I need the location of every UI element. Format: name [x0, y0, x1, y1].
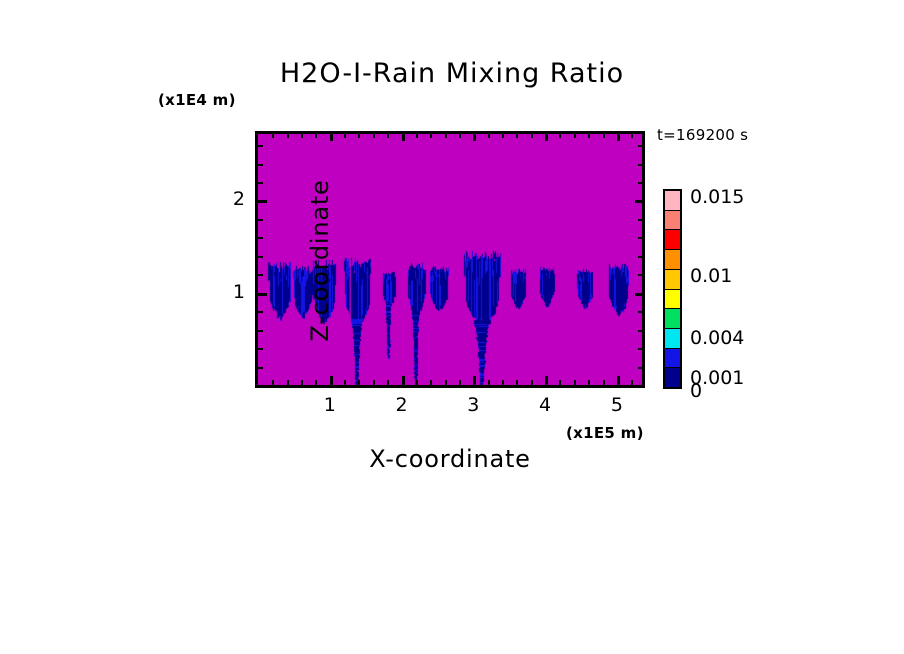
- y-tick-minor: [258, 237, 263, 239]
- x-tick-top: [631, 134, 633, 138]
- x-tick-top: [516, 134, 518, 138]
- x-tick-top: [430, 134, 432, 138]
- y-tick-minor: [258, 330, 263, 332]
- x-tick-minor: [373, 380, 375, 385]
- colorbar-band-9: [665, 368, 680, 387]
- y-tick-right: [638, 164, 642, 166]
- colorbar: [663, 189, 682, 389]
- y-tick-label: 2: [215, 188, 245, 210]
- x-tick-minor: [459, 380, 461, 385]
- colorbar-band-8: [665, 349, 680, 369]
- x-tick-minor: [588, 380, 590, 385]
- x-tick-top: [545, 134, 548, 141]
- y-tick-minor: [258, 348, 263, 350]
- x-tick-minor: [301, 380, 303, 385]
- x-tick-top: [402, 134, 405, 141]
- x-tick-minor: [516, 380, 518, 385]
- y-tick-minor: [258, 219, 263, 221]
- y-axis-title: Z-coordinate: [178, 0, 204, 133]
- x-tick-major: [617, 376, 620, 385]
- x-tick-minor: [574, 380, 576, 385]
- colorbar-tick-label: 0.01: [690, 265, 732, 287]
- x-tick-minor: [531, 380, 533, 385]
- x-tick-top: [617, 134, 620, 141]
- x-tick-top: [344, 134, 346, 138]
- x-tick-minor: [287, 380, 289, 385]
- x-tick-major: [473, 376, 476, 385]
- x-tick-label: 2: [382, 394, 422, 416]
- x-tick-top: [459, 134, 461, 138]
- y-tick-minor: [258, 182, 263, 184]
- colorbar-band-7: [665, 329, 680, 349]
- page-title: H2O-I-Rain Mixing Ratio: [0, 58, 904, 89]
- x-axis-title: X-coordinate: [255, 445, 645, 473]
- colorbar-band-4: [665, 270, 680, 290]
- x-tick-minor: [358, 380, 360, 385]
- y-tick-minor: [258, 274, 263, 276]
- x-tick-minor: [559, 380, 561, 385]
- x-tick-label: 4: [525, 394, 565, 416]
- x-tick-major: [402, 376, 405, 385]
- x-tick-top: [272, 134, 274, 138]
- x-tick-minor: [387, 380, 389, 385]
- y-tick-right: [638, 330, 642, 332]
- x-tick-minor: [603, 380, 605, 385]
- y-tick-minor: [258, 256, 263, 258]
- y-tick-right: [638, 367, 642, 369]
- y-tick-minor: [258, 311, 263, 313]
- x-tick-top: [416, 134, 418, 138]
- x-tick-top: [287, 134, 289, 138]
- y-tick-right: [638, 256, 642, 258]
- x-tick-top: [531, 134, 533, 138]
- x-tick-top: [387, 134, 389, 138]
- y-tick-major: [258, 293, 267, 296]
- y-tick-minor: [258, 145, 263, 147]
- colorbar-band-2: [665, 230, 680, 250]
- y-tick-right: [635, 293, 642, 296]
- y-tick-right: [638, 274, 642, 276]
- y-tick-right: [638, 219, 642, 221]
- colorbar-band-6: [665, 309, 680, 329]
- x-tick-minor: [445, 380, 447, 385]
- x-tick-minor: [488, 380, 490, 385]
- colorbar-tick-label: 0.004: [690, 327, 744, 349]
- x-tick-minor: [502, 380, 504, 385]
- x-tick-label: 1: [310, 394, 350, 416]
- x-tick-label: 3: [453, 394, 493, 416]
- x-tick-top: [603, 134, 605, 138]
- x-tick-minor: [416, 380, 418, 385]
- x-axis-unit-label: (x1E5 m): [566, 424, 644, 442]
- y-tick-right: [638, 311, 642, 313]
- x-tick-major: [545, 376, 548, 385]
- x-tick-minor: [631, 380, 633, 385]
- x-tick-top: [358, 134, 360, 138]
- y-tick-minor: [258, 367, 263, 369]
- x-tick-minor: [430, 380, 432, 385]
- y-tick-right: [638, 348, 642, 350]
- x-tick-label: 5: [597, 394, 637, 416]
- x-tick-minor: [344, 380, 346, 385]
- colorbar-band-5: [665, 290, 680, 310]
- x-tick-top: [373, 134, 375, 138]
- y-tick-label: 1: [215, 281, 245, 303]
- x-tick-minor: [272, 380, 274, 385]
- y-tick-right: [638, 182, 642, 184]
- colorbar-band-0: [665, 191, 680, 211]
- x-tick-top: [473, 134, 476, 141]
- timestamp-label: t=169200 s: [657, 126, 748, 144]
- y-tick-minor: [258, 164, 263, 166]
- x-tick-top: [301, 134, 303, 138]
- x-tick-top: [488, 134, 490, 138]
- y-tick-right: [638, 237, 642, 239]
- y-axis-title-text: Z-coordinate: [306, 133, 334, 388]
- colorbar-band-1: [665, 211, 680, 231]
- x-tick-top: [502, 134, 504, 138]
- x-tick-top: [588, 134, 590, 138]
- y-tick-right: [638, 145, 642, 147]
- x-tick-top: [445, 134, 447, 138]
- colorbar-tick-label: 0: [690, 380, 702, 402]
- colorbar-tick-label: 0.015: [690, 186, 744, 208]
- colorbar-band-3: [665, 250, 680, 270]
- x-tick-top: [574, 134, 576, 138]
- y-tick-right: [635, 200, 642, 203]
- x-tick-top: [559, 134, 561, 138]
- y-tick-major: [258, 200, 267, 203]
